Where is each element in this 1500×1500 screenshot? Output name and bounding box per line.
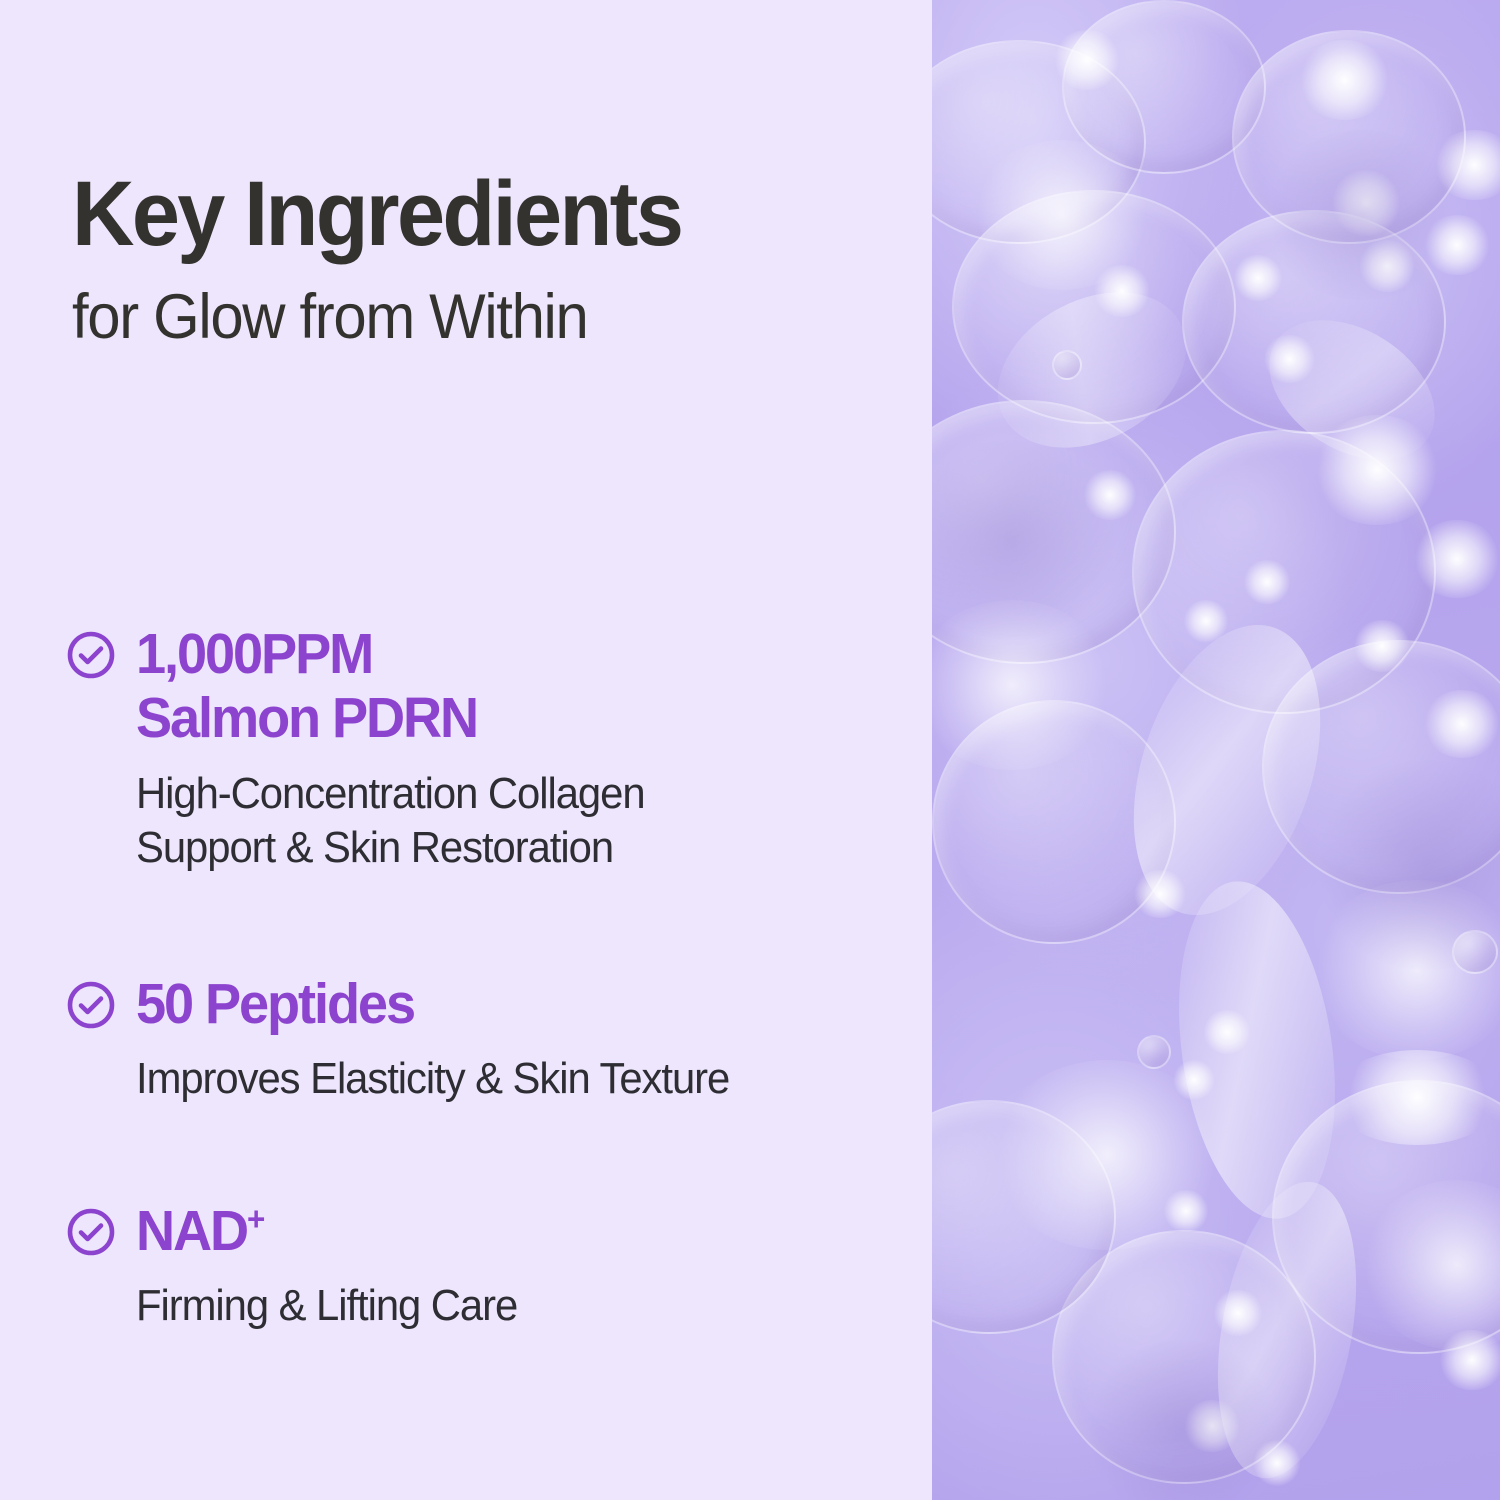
check-circle-icon [66, 630, 116, 680]
product-texture-image [932, 0, 1500, 1500]
page-subtitle: for Glow from Within [72, 286, 851, 349]
ingredient-description: Improves Elasticity & Skin Texture [136, 1052, 868, 1107]
spacer [66, 1107, 906, 1199]
ingredient-item-nad: NAD+ Firming & Lifting Care [66, 1199, 906, 1334]
ingredient-description: High-Concentration Collagen Support & Sk… [136, 767, 868, 876]
ingredient-description: Firming & Lifting Care [136, 1279, 868, 1334]
texture-base [932, 0, 1500, 1500]
page-title: Key Ingredients [72, 168, 843, 260]
ingredient-title: 50 Peptides [136, 972, 414, 1036]
heading-block: Key Ingredients for Glow from Within [72, 168, 892, 349]
ingredient-heading-row: NAD+ [66, 1199, 906, 1263]
check-circle-icon [66, 1207, 116, 1257]
ingredient-item-peptides: 50 Peptides Improves Elasticity & Skin T… [66, 972, 906, 1107]
ingredient-item-pdrn: 1,000PPM Salmon PDRN High-Concentration … [66, 622, 906, 876]
spacer [66, 876, 906, 972]
ingredient-heading-row: 1,000PPM Salmon PDRN [66, 622, 906, 751]
ingredient-title-text: NAD [136, 1199, 247, 1263]
ingredient-heading-row: 50 Peptides [66, 972, 906, 1036]
key-ingredients-infographic: Key Ingredients for Glow from Within 1,0… [0, 0, 1500, 1500]
content-panel: Key Ingredients for Glow from Within 1,0… [0, 0, 932, 1500]
ingredient-title: NAD+ [136, 1199, 264, 1263]
check-circle-icon [66, 980, 116, 1030]
ingredient-list: 1,000PPM Salmon PDRN High-Concentration … [66, 622, 906, 1334]
ingredient-title: 1,000PPM Salmon PDRN [136, 622, 477, 751]
ingredient-title-superscript: + [247, 1200, 264, 1237]
